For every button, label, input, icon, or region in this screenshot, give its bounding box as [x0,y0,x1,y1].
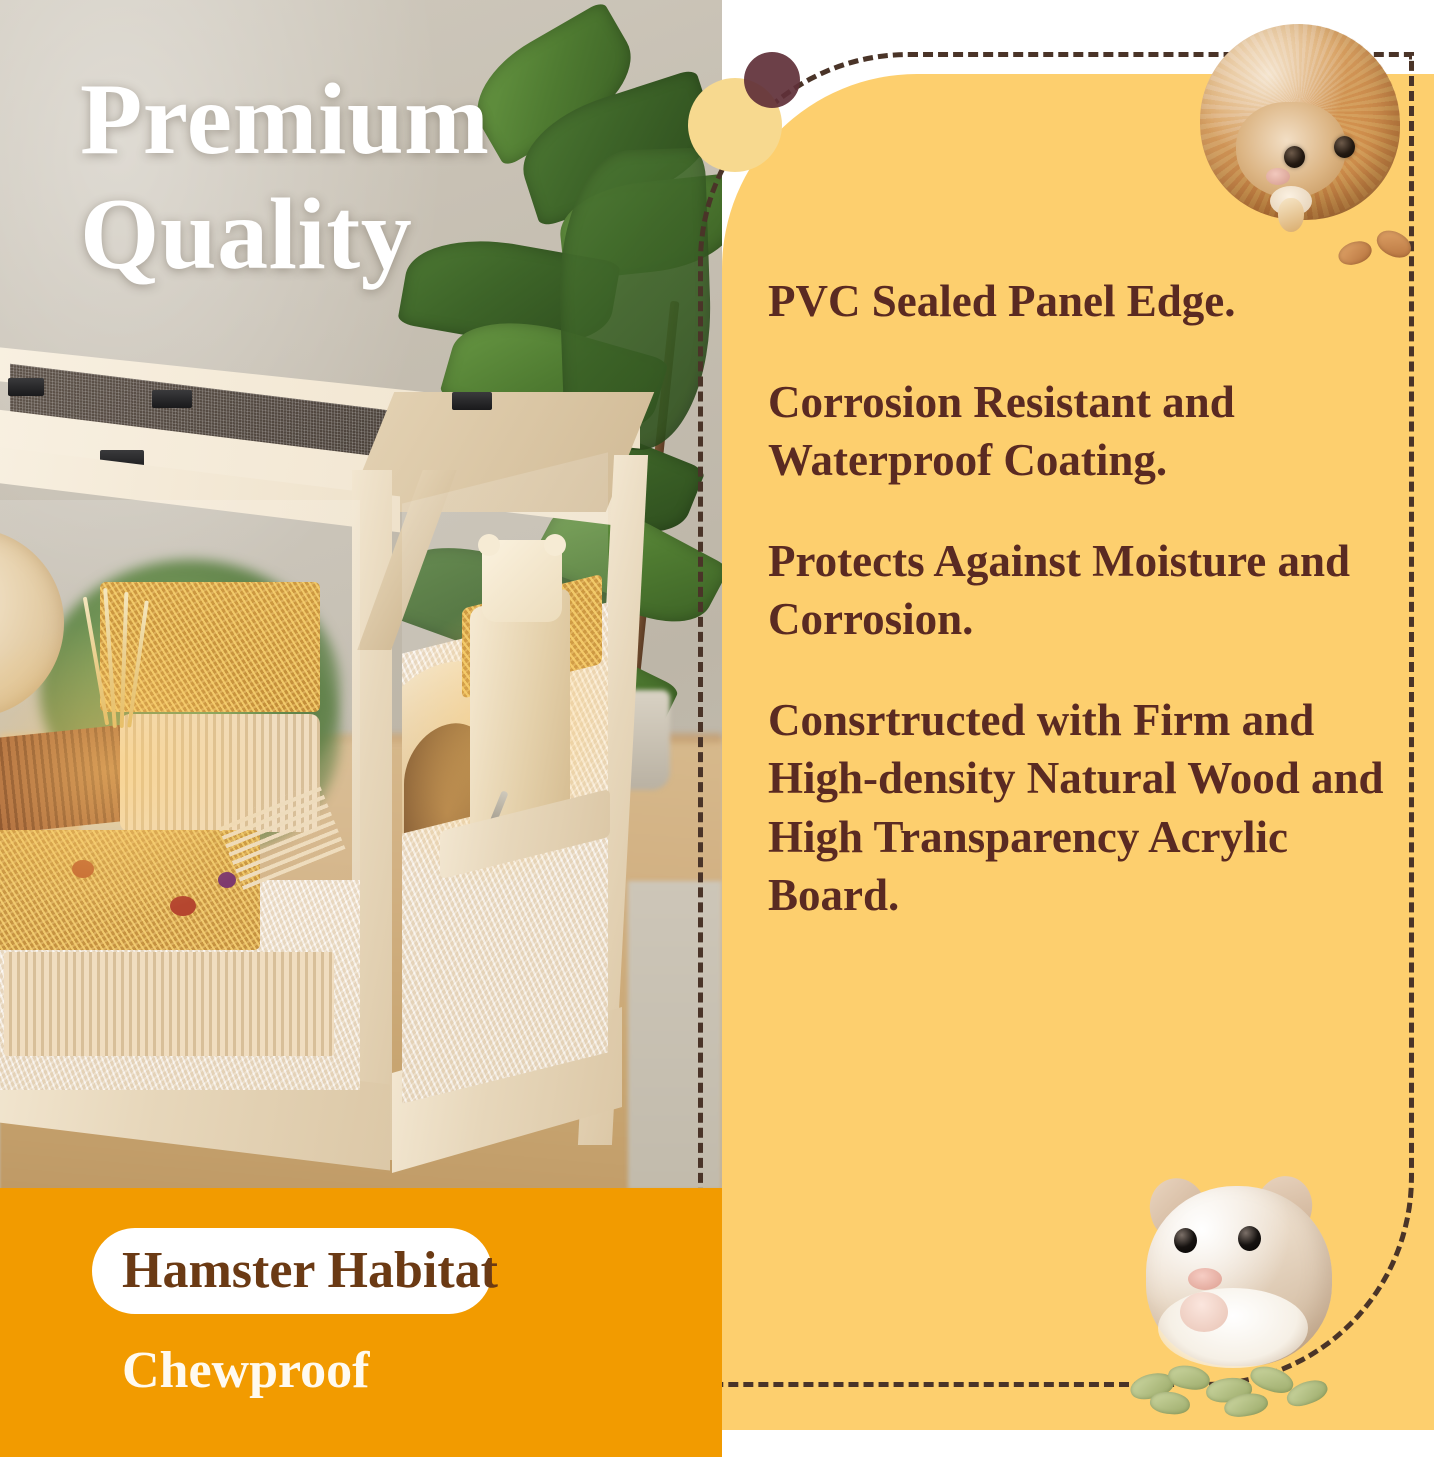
hamster-paws [1180,1292,1228,1332]
dried-flower [72,860,94,878]
cage-hinge [152,390,192,408]
hamster-nose [1188,1268,1222,1290]
hamster-eye-right [1238,1226,1261,1251]
hamster-belly [1158,1288,1308,1368]
dried-flower [218,872,236,888]
decorative-circle-maroon [744,52,800,108]
cage-hinge [452,392,492,410]
bear-shaped-bottle-top [482,540,562,622]
hamster-eye-left [1284,146,1305,168]
hamster-nose [1266,168,1290,185]
feature-list: PVC Sealed Panel Edge. Corrosion Resista… [768,272,1418,925]
wooden-fence-light [4,952,334,1056]
cream-hamster-icon [1140,1176,1340,1396]
wall-baseboard [628,881,722,1190]
product-infographic: Premium Quality PVC Sealed Panel Edge. C… [0,0,1445,1457]
water-bottle [470,587,570,838]
feature-item: Protects Against Moisture and Corrosion. [768,532,1418,649]
hamster-wheel [0,528,64,718]
cage-hinge [8,378,44,396]
feature-item: Consrtructed with Firm and High-density … [768,691,1418,925]
hay-bedding [0,830,260,950]
hamster-eye-right [1334,136,1355,158]
page-title: Premium Quality [80,62,680,293]
dried-flower [170,896,196,916]
title-line-1: Premium [80,62,680,177]
product-name-label: Hamster Habitat [122,1238,498,1304]
title-line-2: Quality [80,177,680,292]
product-feature-label: Chewproof [122,1340,369,1402]
acrylic-front-panel [0,500,360,1090]
golden-hamster-icon [1192,18,1408,236]
feature-item: PVC Sealed Panel Edge. [768,272,1418,331]
feature-item: Corrosion Resistant and Waterproof Coati… [768,373,1418,490]
hamster-food-piece [1278,198,1304,232]
bear-ear-icon [544,534,566,556]
bear-ear-icon [478,534,500,556]
hamster-eye-left [1174,1228,1197,1253]
